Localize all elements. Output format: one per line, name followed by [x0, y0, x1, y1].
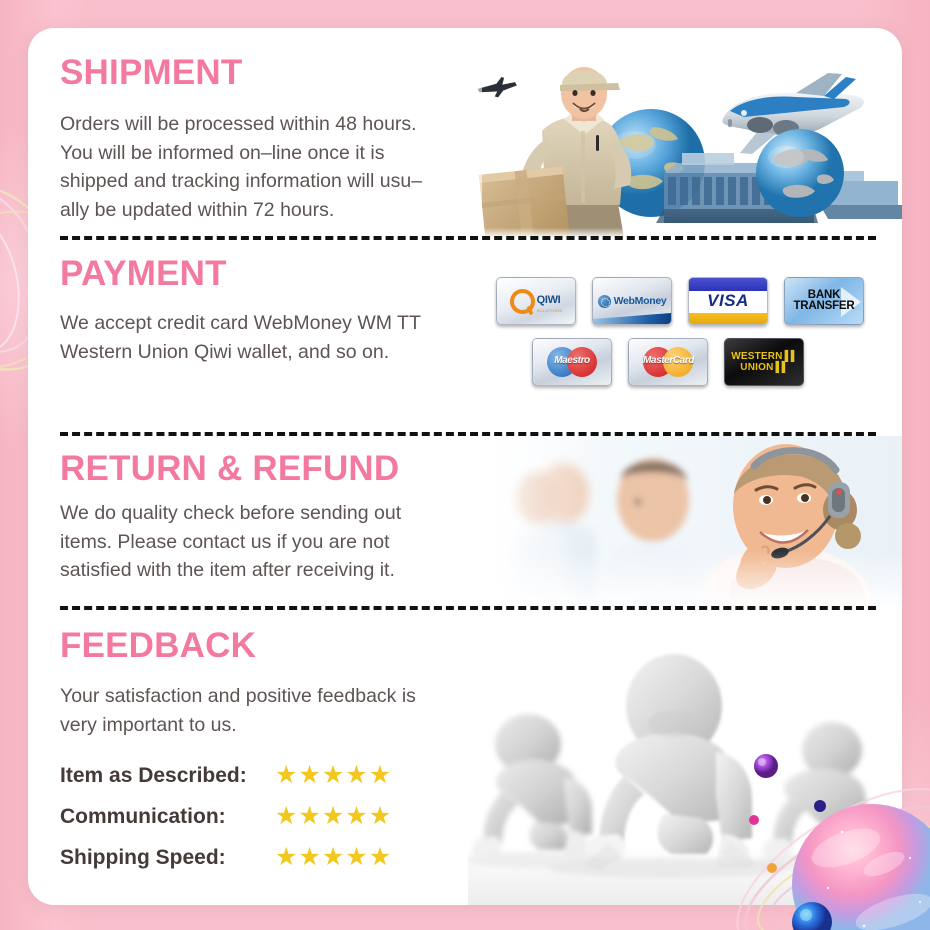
rating-label-shipping-speed: Shipping Speed:: [60, 846, 275, 870]
webmoney-label: WebMoney: [614, 295, 667, 307]
divider-3: [60, 606, 876, 610]
visa-label: VISA: [707, 291, 749, 311]
shipment-title: SHIPMENT: [60, 55, 500, 90]
qiwi-label: QIWI: [537, 294, 561, 306]
rating-stars-item-as-described: ★ ★ ★ ★ ★: [275, 763, 391, 788]
payment-logo-qiwi: QIWI SOLUTIONS: [496, 277, 576, 325]
divider-1: [60, 236, 876, 240]
rating-stars-shipping-speed: ★ ★ ★ ★ ★: [275, 845, 391, 870]
western-union-bars-icon: ▌▌: [785, 351, 797, 362]
payment-logo-visa: VISA: [688, 277, 768, 325]
payment-logo-maestro: Maestro: [532, 338, 612, 386]
rating-row-communication: Communication: ★ ★ ★ ★ ★: [60, 796, 391, 837]
shipment-illustration: [468, 53, 902, 238]
section-shipment: SHIPMENT Orders will be processed within…: [60, 55, 500, 224]
rating-stars-communication: ★ ★ ★ ★ ★: [275, 804, 391, 829]
webmoney-stripe: [593, 313, 671, 324]
feedback-illustration: [468, 628, 902, 905]
star-icon: ★: [275, 804, 297, 829]
rating-row-shipping-speed: Shipping Speed: ★ ★ ★ ★ ★: [60, 837, 391, 878]
western-union-bars-icon-2: ▌▌: [776, 362, 788, 373]
payment-logo-bank-transfer: BANK TRANSFER: [784, 277, 864, 325]
shipment-body: Orders will be processed within 48 hours…: [60, 110, 500, 224]
payment-logo-mastercard: MasterCard: [628, 338, 708, 386]
western-union-line1: WESTERN: [731, 351, 782, 362]
policy-banner: SHIPMENT Orders will be processed within…: [0, 0, 930, 930]
payment-logos-row-2: Maestro MasterCard WESTERN▌▌ UNION▌▌: [532, 338, 864, 386]
payment-logo-webmoney: WebMoney: [592, 277, 672, 325]
rating-label-item-as-described: Item as Described:: [60, 764, 275, 788]
qiwi-sublabel: SOLUTIONS: [537, 308, 563, 313]
star-icon: ★: [275, 763, 297, 788]
star-icon: ★: [298, 845, 320, 870]
return-refund-body: We do quality check before sending out i…: [60, 499, 490, 585]
payment-body: We accept credit card WebMoney WM TT Wes…: [60, 309, 480, 366]
star-icon: ★: [345, 804, 367, 829]
bank-transfer-line2: TRANSFER: [793, 301, 854, 313]
section-feedback: FEEDBACK Your satisfaction and positive …: [60, 628, 490, 739]
payment-logo-western-union: WESTERN▌▌ UNION▌▌: [724, 338, 804, 386]
star-icon: ★: [322, 845, 344, 870]
mastercard-label: MasterCard: [643, 355, 693, 366]
rating-label-communication: Communication:: [60, 805, 275, 829]
visa-top-band: [689, 278, 767, 291]
webmoney-globe-icon: [598, 295, 611, 308]
feedback-body: Your satisfaction and positive feedback …: [60, 682, 490, 739]
star-icon: ★: [275, 845, 297, 870]
return-refund-title: RETURN & REFUND: [60, 451, 490, 486]
payment-logos: QIWI SOLUTIONS WebMoney VISA: [496, 277, 864, 386]
star-icon: ★: [345, 763, 367, 788]
star-icon: ★: [298, 804, 320, 829]
payment-logos-row-1: QIWI SOLUTIONS WebMoney VISA: [496, 277, 864, 325]
maestro-label: Maestro: [547, 355, 597, 366]
section-payment: PAYMENT We accept credit card WebMoney W…: [60, 256, 480, 366]
star-icon: ★: [369, 763, 391, 788]
qiwi-q-icon: [510, 289, 535, 314]
rating-row-item-as-described: Item as Described: ★ ★ ★ ★ ★: [60, 755, 391, 796]
star-icon: ★: [369, 845, 391, 870]
star-icon: ★: [298, 763, 320, 788]
star-icon: ★: [369, 804, 391, 829]
policy-card: SHIPMENT Orders will be processed within…: [28, 28, 902, 905]
section-return-refund: RETURN & REFUND We do quality check befo…: [60, 451, 490, 585]
feedback-ratings: Item as Described: ★ ★ ★ ★ ★ Communicati…: [60, 755, 391, 878]
visa-bottom-band: [689, 313, 767, 324]
star-icon: ★: [345, 845, 367, 870]
customer-service-illustration: [468, 436, 902, 606]
payment-title: PAYMENT: [60, 256, 480, 291]
star-icon: ★: [322, 804, 344, 829]
star-icon: ★: [322, 763, 344, 788]
feedback-title: FEEDBACK: [60, 628, 490, 663]
western-union-line2: UNION: [740, 362, 773, 373]
